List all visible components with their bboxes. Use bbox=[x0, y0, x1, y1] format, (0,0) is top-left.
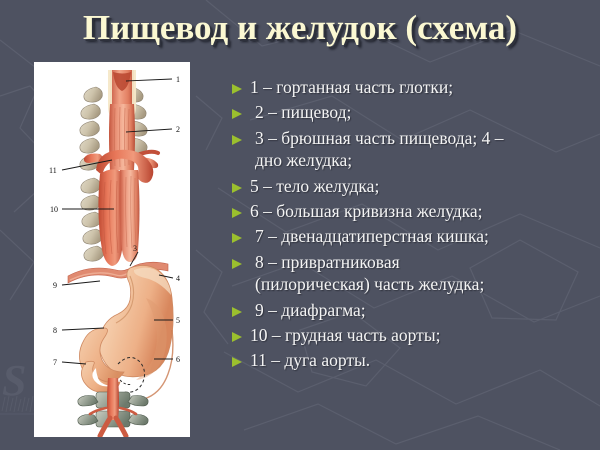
list-item: 5 – тело желудка; bbox=[231, 175, 591, 197]
list-item-label: 10 – грудная часть аорты; bbox=[250, 324, 591, 346]
legend-list: 1 – гортанная часть глотки;2 – пищевод;3… bbox=[231, 76, 591, 375]
list-item-label: 11 – дуга аорты. bbox=[250, 349, 591, 371]
triangle-bullet-icon bbox=[231, 108, 243, 120]
triangle-bullet-icon bbox=[231, 258, 243, 270]
svg-text:5: 5 bbox=[176, 316, 180, 325]
list-item: 6 – большая кривизна желудка; bbox=[231, 200, 591, 222]
triangle-bullet-icon bbox=[231, 331, 243, 343]
triangle-bullet-icon bbox=[231, 83, 243, 95]
list-item: 10 – грудная часть аорты; bbox=[231, 324, 591, 346]
triangle-bullet-icon bbox=[231, 207, 243, 219]
list-item: 1 – гортанная часть глотки; bbox=[231, 76, 591, 98]
svg-text:10: 10 bbox=[50, 205, 58, 214]
list-item-label: 6 – большая кривизна желудка; bbox=[250, 200, 591, 222]
svg-text:11: 11 bbox=[49, 166, 57, 175]
svg-text:8: 8 bbox=[53, 326, 57, 335]
list-item: 3 – брюшная часть пищевода; 4 –дно желуд… bbox=[231, 127, 591, 172]
slide: S Пищевод и желудок (схема) bbox=[0, 0, 600, 450]
list-item-label: 2 – пищевод; bbox=[250, 101, 591, 123]
triangle-bullet-icon bbox=[231, 356, 243, 368]
svg-text:4: 4 bbox=[176, 274, 180, 283]
svg-text:2: 2 bbox=[176, 125, 180, 134]
list-item-label: 9 – диафрагма; bbox=[250, 299, 591, 321]
svg-text:3: 3 bbox=[133, 244, 137, 253]
list-item: 8 – привратниковая(пилорическая) часть ж… bbox=[231, 251, 591, 296]
svg-text:7: 7 bbox=[53, 358, 57, 367]
esophagus-stomach-illustration: 1 2 11 10 3 4 9 5 8 7 6 bbox=[34, 62, 190, 437]
list-item-label: 7 – двенадцатиперстная кишка; bbox=[250, 225, 591, 247]
triangle-bullet-icon bbox=[231, 232, 243, 244]
list-item-label: 1 – гортанная часть глотки; bbox=[250, 76, 591, 98]
triangle-bullet-icon bbox=[231, 134, 243, 146]
list-item: 11 – дуга аорты. bbox=[231, 349, 591, 371]
triangle-bullet-icon bbox=[231, 182, 243, 194]
list-item-label: 8 – привратниковая(пилорическая) часть ж… bbox=[250, 251, 591, 296]
list-item: 2 – пищевод; bbox=[231, 101, 591, 123]
svg-text:6: 6 bbox=[176, 355, 180, 364]
svg-text:9: 9 bbox=[53, 281, 57, 290]
anatomy-figure-panel: 1 2 11 10 3 4 9 5 8 7 6 bbox=[34, 62, 190, 437]
watermark-letter: S bbox=[2, 355, 24, 406]
list-item: 7 – двенадцатиперстная кишка; bbox=[231, 225, 591, 247]
list-item: 9 – диафрагма; bbox=[231, 299, 591, 321]
list-item-label: 5 – тело желудка; bbox=[250, 175, 591, 197]
svg-text:1: 1 bbox=[176, 75, 180, 84]
page-title: Пищевод и желудок (схема) bbox=[0, 8, 600, 48]
triangle-bullet-icon bbox=[231, 306, 243, 318]
list-item-label: 3 – брюшная часть пищевода; 4 –дно желуд… bbox=[250, 127, 591, 172]
